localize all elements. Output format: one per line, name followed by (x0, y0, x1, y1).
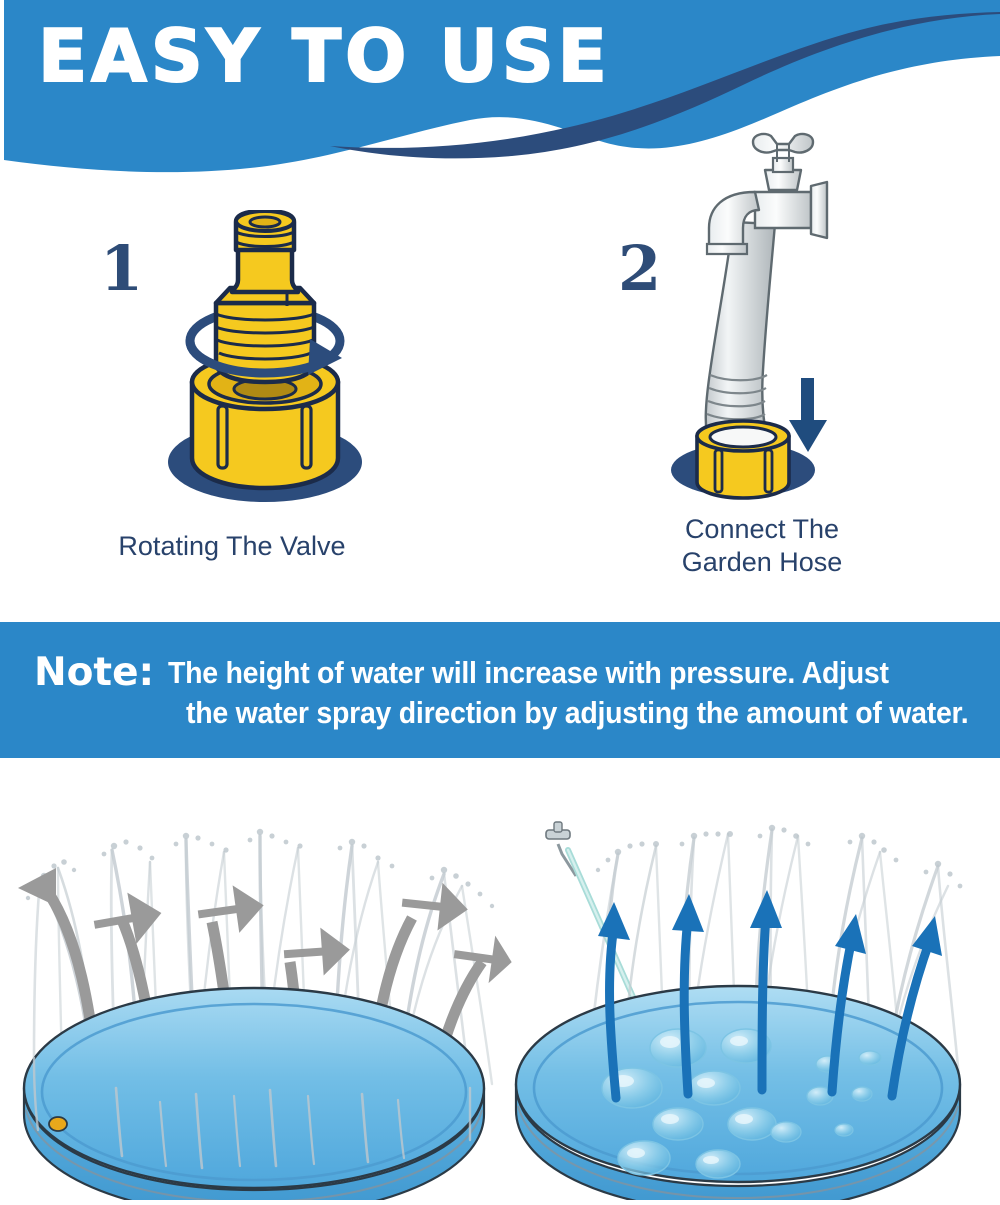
bottom-illustrations (0, 758, 1000, 1200)
note-text-line-1: The height of water will increase with p… (168, 655, 889, 691)
step-2: 2 (500, 160, 1000, 620)
yellow-connector (697, 421, 789, 498)
sprinkler-outward-svg (0, 758, 520, 1200)
valve-nipple (232, 211, 298, 292)
water-spray-droplets (596, 825, 963, 889)
page-title: EASY TO USE (38, 20, 611, 92)
valve-connector-illustration (150, 210, 380, 530)
step-1-number: 1 (100, 238, 143, 300)
sprinkler-upward-illustration (480, 758, 1000, 1200)
faucet-hose-illustration (605, 132, 905, 532)
note-label: Note: (34, 650, 154, 695)
product-instruction-graphic: EASY TO USE 1 (0, 0, 1000, 1200)
inlet-nozzle (49, 1117, 67, 1131)
step-2-caption: Connect The Garden Hose (512, 513, 1000, 579)
note-banner: Note:The height of water will increase w… (0, 622, 1000, 758)
note-line-2: the water spray direction by adjusting t… (34, 695, 974, 731)
step-2-caption-line-1: Connect The (685, 514, 839, 544)
sprinkler-outward-illustration (0, 758, 520, 1200)
steps-section: 1 (0, 160, 1000, 620)
insert-down-arrow (789, 378, 827, 452)
step-2-caption-line-2: Garden Hose (682, 547, 843, 577)
splash-pad-left (24, 988, 484, 1200)
step-1: 1 (0, 160, 500, 620)
sprinkler-upward-svg (480, 758, 1000, 1200)
note-text-line-2: the water spray direction by adjusting t… (186, 695, 968, 731)
note-line-1: Note:The height of water will increase w… (34, 650, 974, 695)
step-1-caption: Rotating The Valve (0, 530, 482, 563)
